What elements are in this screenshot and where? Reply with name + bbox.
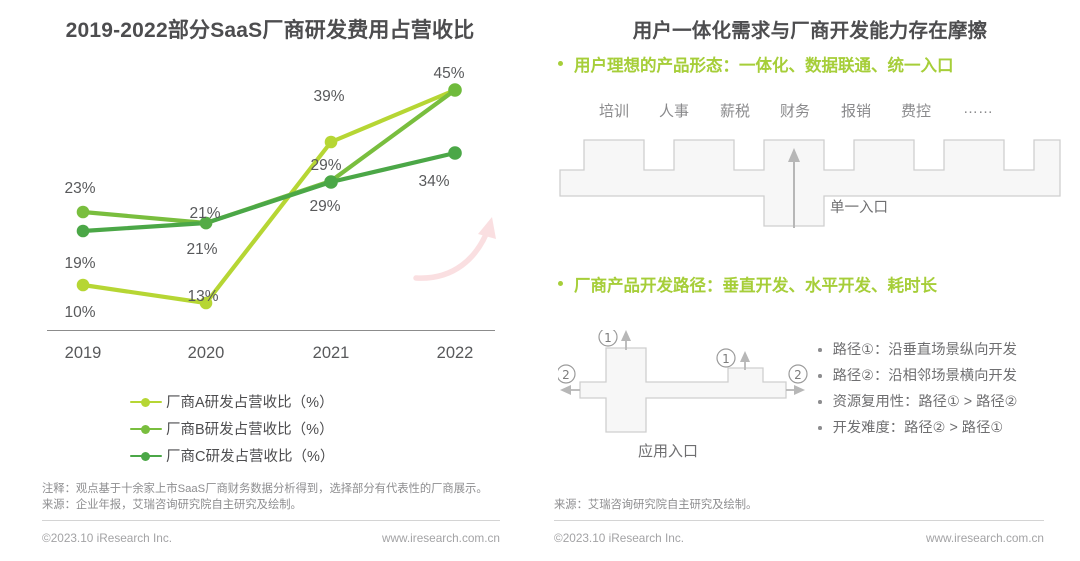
- app-entry-label: 应用入口: [558, 440, 778, 461]
- legend-swatch-c: [130, 449, 162, 463]
- right-panel-title: 用户一体化需求与厂商开发能力存在摩擦: [540, 14, 1080, 43]
- label-b-2021: 29%: [310, 157, 341, 175]
- right-panel: 用户一体化需求与厂商开发能力存在摩擦 用户理想的产品形态：一体化、数据联通、统一…: [540, 0, 1080, 561]
- bullet-dot-icon: [818, 374, 822, 378]
- chart-svg: [0, 48, 540, 348]
- legend-label-a: 厂商A研发占营收比（%）: [166, 391, 334, 412]
- legend-item-vendor-b[interactable]: 厂商B研发占营收比（%）: [130, 415, 530, 442]
- module-label-ellipsis: ……: [943, 100, 1013, 117]
- legend-swatch-b: [130, 422, 162, 436]
- integration-diagram: 培训 人事 薪税 财务 报销 费控 …… 单一入口: [554, 100, 1066, 230]
- slide: 2019-2022部分SaaS厂商研发费用占营收比: [0, 0, 1080, 561]
- legend-item-vendor-c[interactable]: 厂商C研发占营收比（%）: [130, 442, 530, 469]
- left-website[interactable]: www.iresearch.com.cn: [382, 531, 500, 545]
- chart-x-tick-labels: 2019 2020 2021 2022: [47, 344, 495, 370]
- left-footer-divider: [42, 520, 500, 521]
- chart-x-axis: [47, 330, 495, 331]
- development-path-diagram: 1 1 2 2 应用入口: [558, 330, 808, 470]
- bullet-dot-icon: [818, 426, 822, 430]
- section2-heading: 厂商产品开发路径：垂直开发、水平开发、耗时长: [558, 272, 937, 296]
- growth-arrow-icon: [416, 217, 496, 278]
- left-footer: ©2023.10 iResearch Inc. www.iresearch.co…: [42, 531, 500, 545]
- svg-text:1: 1: [604, 331, 612, 345]
- left-notes: 注释：观点基于十余家上市SaaS厂商财务数据分析得到，选择部分有代表性的厂商展示…: [42, 481, 500, 513]
- note-source: 来源：企业年报，艾瑞咨询研究院自主研究及绘制。: [42, 497, 500, 513]
- legend-swatch-a: [130, 395, 162, 409]
- line-chart: [0, 48, 540, 348]
- path-diagram-shape: 1 1 2 2: [558, 330, 808, 445]
- left-copyright: ©2023.10 iResearch Inc.: [42, 531, 172, 545]
- label-c-2022: 34%: [418, 173, 449, 191]
- label-c-2020: 21%: [186, 241, 217, 259]
- svg-text:1: 1: [722, 352, 730, 366]
- legend-label-b: 厂商B研发占营收比（%）: [166, 418, 334, 439]
- left-panel: 2019-2022部分SaaS厂商研发费用占营收比: [0, 0, 540, 561]
- right-website[interactable]: www.iresearch.com.cn: [926, 531, 1044, 545]
- module-label-hr: 人事: [639, 100, 709, 121]
- arrow-right-icon: [786, 385, 805, 395]
- left-panel-title: 2019-2022部分SaaS厂商研发费用占营收比: [0, 14, 540, 44]
- right-notes: 来源：艾瑞咨询研究院自主研究及绘制。: [554, 497, 1044, 513]
- module-labels: 培训 人事 薪税 财务 报销 费控 ……: [554, 100, 1066, 124]
- bullet-dot-icon: [558, 281, 563, 286]
- single-entry-label: 单一入口: [830, 196, 888, 217]
- arrow-up-1-icon: [621, 330, 631, 350]
- module-label-finance: 财务: [760, 100, 830, 121]
- note-source: 来源：艾瑞咨询研究院自主研究及绘制。: [554, 497, 1044, 513]
- label-c-2021: 29%: [309, 198, 340, 216]
- right-footer-divider: [554, 520, 1044, 521]
- path-bullet-3-text: 资源复用性：路径① > 路径②: [833, 390, 1018, 411]
- arrow-left-icon: [560, 385, 580, 395]
- bullet-dot-icon: [558, 61, 563, 66]
- path-bullet-3: 资源复用性：路径① > 路径②: [818, 390, 1073, 416]
- label-ab-2022: 45%: [433, 65, 464, 83]
- section1-heading-text: 用户理想的产品形态：一体化、数据联通、统一入口: [574, 52, 954, 76]
- right-footer: ©2023.10 iResearch Inc. www.iresearch.co…: [554, 531, 1044, 545]
- path-bullet-2: 路径②：沿相邻场景横向开发: [818, 364, 1073, 390]
- module-label-cost: 费控: [881, 100, 951, 121]
- note-annotation: 注释：观点基于十余家上市SaaS厂商财务数据分析得到，选择部分有代表性的厂商展示…: [42, 481, 500, 497]
- x-tick-2022: 2022: [415, 344, 495, 363]
- label-a-2021: 39%: [313, 88, 344, 106]
- bullet-dot-icon: [818, 400, 822, 404]
- bullet-dot-icon: [818, 348, 822, 352]
- path-bullet-4-text: 开发难度：路径② > 路径①: [833, 416, 1004, 437]
- section2-heading-text: 厂商产品开发路径：垂直开发、水平开发、耗时长: [574, 272, 937, 296]
- chart-legend: 厂商A研发占营收比（%） 厂商B研发占营收比（%） 厂商C研发占营收比（%）: [130, 388, 530, 469]
- svg-text:2: 2: [562, 368, 570, 382]
- path-bullet-4: 开发难度：路径② > 路径①: [818, 416, 1073, 442]
- label-b-2020: 21%: [189, 205, 220, 223]
- path-bullet-1-text: 路径①：沿垂直场景纵向开发: [833, 338, 1017, 359]
- label-a-2020: 13%: [187, 288, 218, 306]
- path-bullet-list: 路径①：沿垂直场景纵向开发 路径②：沿相邻场景横向开发 资源复用性：路径① > …: [818, 338, 1073, 442]
- legend-item-vendor-a[interactable]: 厂商A研发占营收比（%）: [130, 388, 530, 415]
- x-tick-2019: 2019: [43, 344, 123, 363]
- section1-heading: 用户理想的产品形态：一体化、数据联通、统一入口: [558, 52, 954, 76]
- legend-label-c: 厂商C研发占营收比（%）: [166, 445, 334, 466]
- label-b-2019: 23%: [64, 180, 95, 198]
- path-bullet-2-text: 路径②：沿相邻场景横向开发: [833, 364, 1017, 385]
- x-tick-2020: 2020: [166, 344, 246, 363]
- svg-text:2: 2: [794, 368, 802, 382]
- comb-shape: [554, 122, 1066, 232]
- label-c-2019: 19%: [64, 255, 95, 273]
- right-copyright: ©2023.10 iResearch Inc.: [554, 531, 684, 545]
- label-a-2019: 10%: [64, 304, 95, 322]
- path-bullet-1: 路径①：沿垂直场景纵向开发: [818, 338, 1073, 364]
- arrow-up-2-icon: [740, 351, 750, 370]
- x-tick-2021: 2021: [291, 344, 371, 363]
